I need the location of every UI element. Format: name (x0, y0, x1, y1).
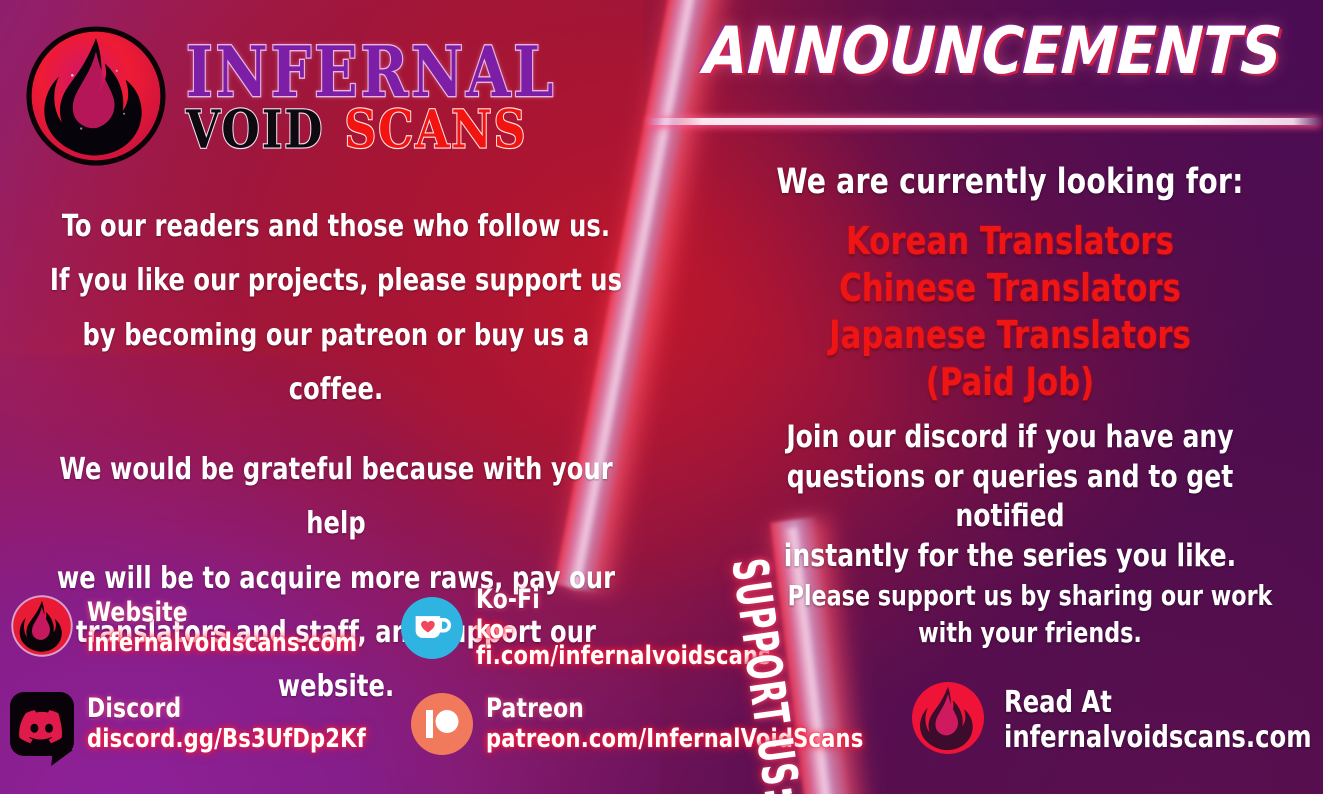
discord-invite-line: questions or queries and to get notified (731, 458, 1289, 537)
brand-name-void: VOID (186, 108, 324, 156)
share-message-line: with your friends. (769, 615, 1291, 652)
discord-logo-icon (10, 692, 74, 756)
infernal-flame-circle-icon (22, 22, 170, 175)
brand-wordmark: INFERNAL VOID SCANS (186, 45, 556, 152)
link-patreon-title: Patreon (486, 695, 863, 723)
discord-invite-message: Join our discord if you have any questio… (731, 418, 1289, 577)
link-discord-title: Discord (87, 695, 366, 723)
page-title: ANNOUNCEMENTS (678, 14, 1307, 89)
discord-invite-line: instantly for the series you like. (731, 537, 1289, 577)
recruiting-roles: Korean Translators Chinese Translators J… (731, 218, 1289, 406)
link-website[interactable]: Website infernalvoidscans.com (10, 594, 387, 662)
infernal-flame-circle-icon (908, 678, 988, 762)
brand-header: INFERNAL VOID SCANS (22, 22, 556, 175)
share-message: Please support us by sharing our work wi… (769, 578, 1291, 653)
recruiting-role-item: Chinese Translators (731, 265, 1289, 312)
social-links-row: Discord discord.gg/Bs3UfDp2Kf Patreon pa… (10, 692, 820, 756)
support-message-line: If you like our projects, please support… (46, 254, 627, 308)
read-at-title: Read At (1004, 687, 1312, 718)
infernal-flame-circle-icon (10, 594, 74, 662)
support-message-line: To our readers and those who follow us. (46, 200, 627, 254)
support-message-line: We would be grateful because with your h… (46, 443, 627, 552)
discord-invite-line: Join our discord if you have any (731, 418, 1289, 458)
recruiting-label: We are currently looking for: (731, 162, 1289, 202)
patreon-logo-icon (411, 693, 473, 755)
recruiting-role-paid-note: (Paid Job) (731, 359, 1289, 406)
read-at-url: infernalvoidscans.com (1004, 722, 1312, 753)
social-links-row: Website infernalvoidscans.com Ko-Fi ko-f… (10, 586, 820, 670)
social-links: Website infernalvoidscans.com Ko-Fi ko-f… (10, 586, 820, 770)
title-divider-rule (648, 118, 1320, 125)
share-message-line: Please support us by sharing our work (769, 578, 1291, 615)
paragraph-spacer (46, 417, 627, 443)
link-patreon-url: patreon.com/InfernalVoidScans (486, 726, 863, 753)
link-website-title: Website (87, 599, 357, 627)
brand-name-scans: SCANS (344, 108, 527, 156)
link-patreon[interactable]: Patreon patreon.com/InfernalVoidScans (411, 693, 905, 755)
link-discord-url: discord.gg/Bs3UfDp2Kf (87, 726, 366, 753)
brand-name-infernal: INFERNAL (186, 41, 556, 105)
recruiting-role-item: Japanese Translators (731, 312, 1289, 359)
kofi-cup-icon (401, 597, 463, 659)
recruiting-role-item: Korean Translators (731, 218, 1289, 265)
announcement-banner: INFERNAL VOID SCANS To our readers and t… (0, 0, 1323, 794)
link-discord[interactable]: Discord discord.gg/Bs3UfDp2Kf (10, 692, 397, 756)
read-at-link[interactable]: Read At infernalvoidscans.com (908, 678, 1323, 762)
link-website-url: infernalvoidscans.com (87, 630, 357, 657)
support-message-line: by becoming our patreon or buy us a coff… (46, 309, 627, 418)
